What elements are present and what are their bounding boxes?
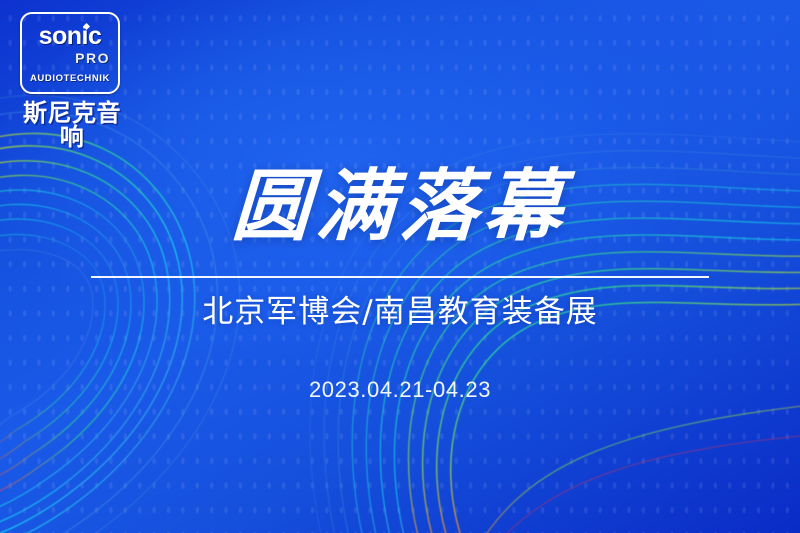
logo-chinese-name: 斯尼克音响 (16, 101, 128, 149)
headline-block: 圆满落幕 北京军博会/南昌教育装备展 2023.04.21-04.23 (0, 168, 800, 401)
event-subtitle: 北京军博会/南昌教育装备展 (0, 295, 800, 329)
logo-frame: sonic PRO AUDIOTECHNIK (20, 12, 120, 94)
brand-logo: sonic PRO AUDIOTECHNIK 斯尼克音响 (16, 12, 128, 149)
logo-descriptor-text: AUDIOTECHNIK (22, 74, 118, 84)
logo-brand-text: sonic (22, 24, 118, 49)
event-date-range: 2023.04.21-04.23 (0, 379, 800, 401)
logo-tier-text: PRO (22, 51, 110, 65)
poster-canvas: sonic PRO AUDIOTECHNIK 斯尼克音响 圆满落幕 北京军博会/… (0, 0, 800, 533)
page-title: 圆满落幕 (0, 168, 800, 246)
title-divider (91, 276, 709, 278)
